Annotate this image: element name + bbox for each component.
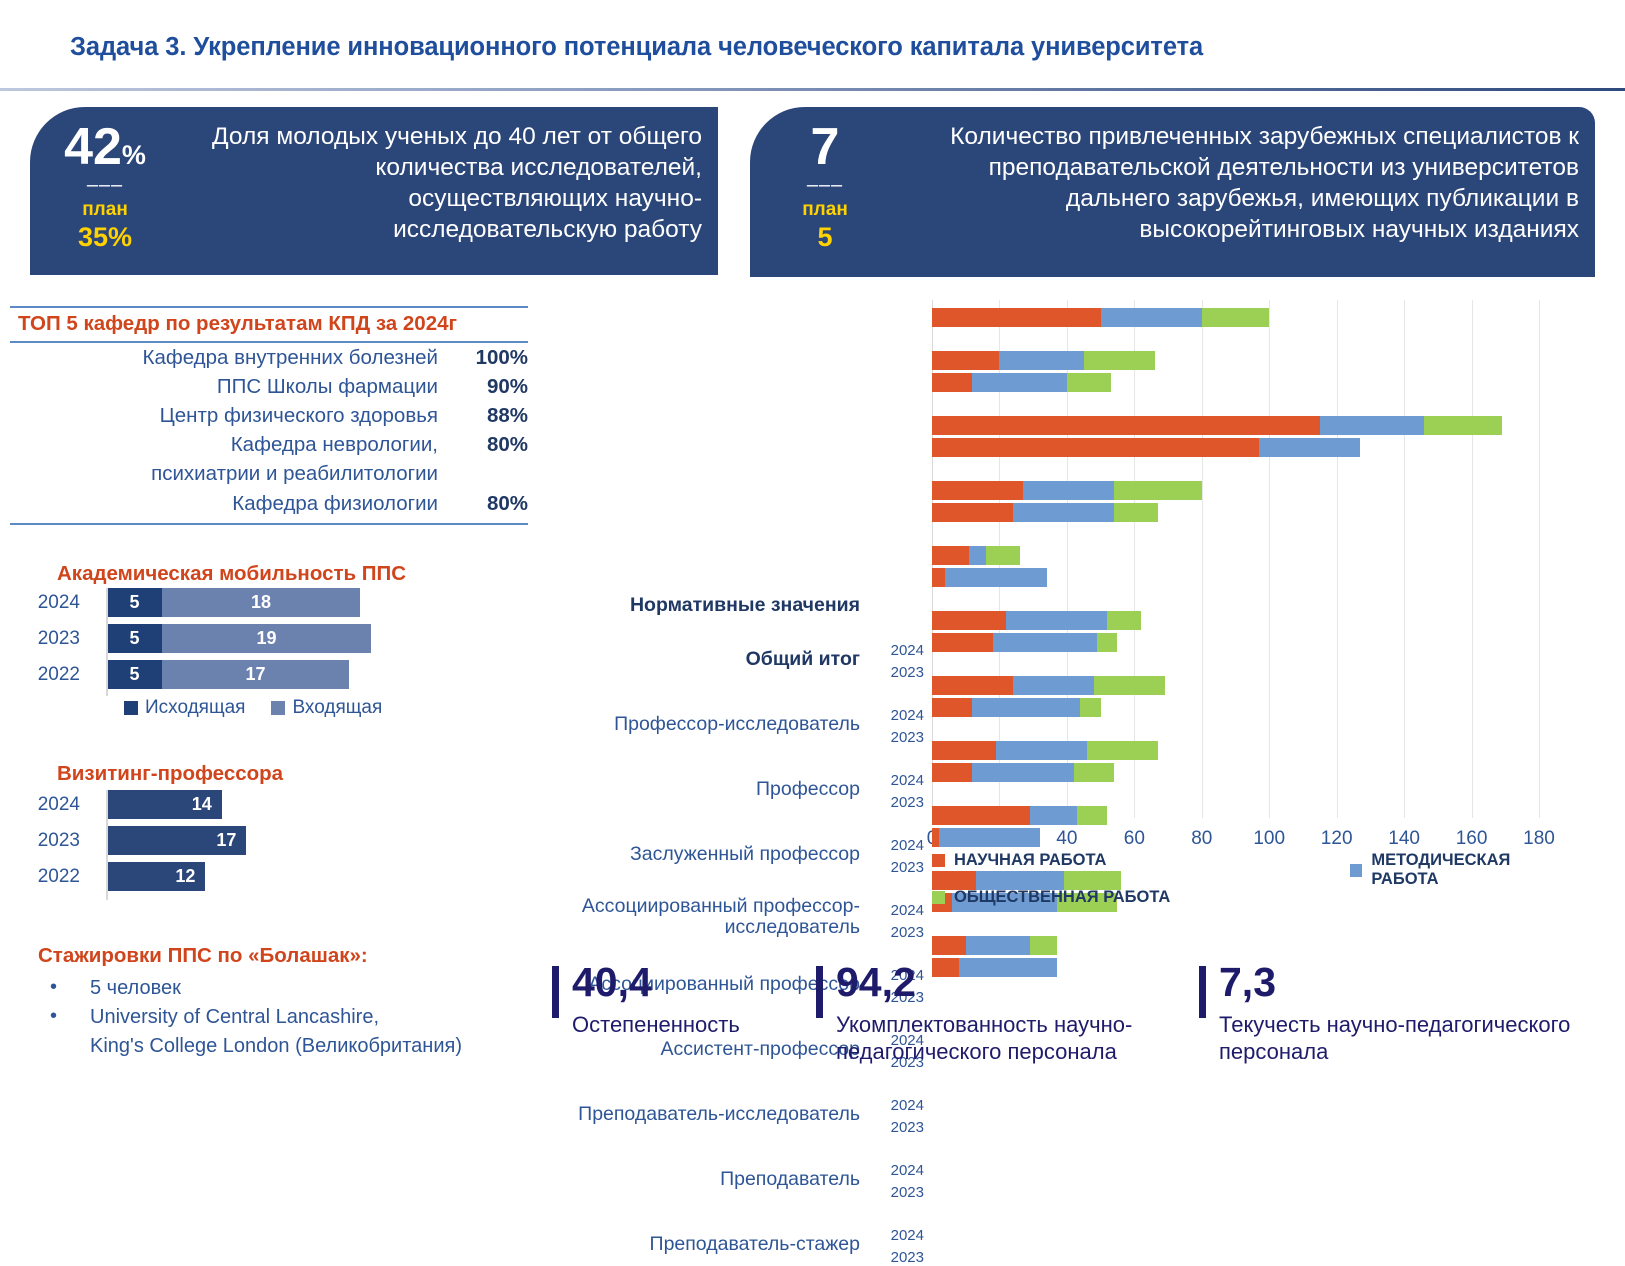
bullet-icon: • xyxy=(50,973,57,1002)
x-axis-tick: 140 xyxy=(1388,828,1420,850)
x-axis-tick: 60 xyxy=(1124,828,1145,850)
legend-item: МЕТОДИЧЕСКАЯ РАБОТА xyxy=(1350,851,1572,889)
kpi-value: 40,4 xyxy=(572,962,802,1003)
bar-row: 2023519 xyxy=(18,624,418,653)
bar-segment-1 xyxy=(932,763,972,782)
table-bottom-rule xyxy=(10,523,528,525)
bar-year-label: 2023 xyxy=(878,859,924,876)
bar-year-label: 2022 xyxy=(18,664,89,686)
kpi-description: Доля молодых ученых до 40 лет от общего … xyxy=(192,121,702,245)
department-name: психиатрии и реабилитологии xyxy=(151,459,456,488)
bar-segment-1 xyxy=(932,568,945,587)
bar-year-label: 2023 xyxy=(878,729,924,746)
department-name: Кафедра неврологии, xyxy=(231,430,456,459)
bar-segment-3 xyxy=(986,546,1020,565)
legend-swatch xyxy=(271,701,285,715)
kpi-card-young-scientists: 42% ––– план 35% Доля молодых ученых до … xyxy=(30,107,718,275)
legend-swatch xyxy=(932,854,945,867)
legend-swatch xyxy=(124,701,138,715)
bar-year-label: 2024 xyxy=(878,1162,924,1179)
list-item-label: University of Central Lancashire, xyxy=(90,1006,379,1028)
department-value: 90% xyxy=(456,372,528,401)
bar-segment-2 xyxy=(1006,611,1107,630)
top5-departments-table: ТОП 5 кафедр по результатам КПД за 2024г… xyxy=(10,306,528,525)
bar-segment-2 xyxy=(1013,676,1094,695)
department-name: Кафедра внутренних болезней xyxy=(143,343,457,372)
x-axis-tick: 160 xyxy=(1456,828,1488,850)
list-item: King's College London (Великобритания) xyxy=(44,1032,538,1061)
bar-segment-2 xyxy=(939,828,1040,847)
bar-year-label: 2022 xyxy=(18,866,89,888)
bar-segment-2 xyxy=(999,351,1083,370)
bar-segment-outgoing: 5 xyxy=(107,588,162,617)
bullet-icon: • xyxy=(50,1002,57,1031)
list-item-label: King's College London (Великобритания) xyxy=(90,1035,462,1057)
table-body: Кафедра внутренних болезней100%ППС Школы… xyxy=(10,343,528,518)
table-row: Центр физического здоровья88% xyxy=(10,401,528,430)
x-axis-tick: 80 xyxy=(1191,828,1212,850)
bar-segment-3 xyxy=(1424,416,1502,435)
bar-year-label: 2024 xyxy=(878,1227,924,1244)
bar-segment-2 xyxy=(1101,308,1202,327)
kpi-value: 7 xyxy=(811,121,840,173)
bar-year-label: 2024 xyxy=(878,1097,924,1114)
bar-segment-1 xyxy=(932,698,972,717)
legend-label: МЕТОДИЧЕСКАЯ РАБОТА xyxy=(1371,851,1572,889)
bar-category-label: Ассоциированный профессор-исследователь xyxy=(560,896,860,940)
gridline xyxy=(1202,300,1203,818)
bar-row: 202212 xyxy=(18,862,418,891)
header-divider xyxy=(0,88,1625,91)
legend-label: ОБЩЕСТВЕННАЯ РАБОТА xyxy=(954,888,1170,907)
bottom-kpi-turnover: 7,3 Текучесть научно-педагогического пер… xyxy=(1199,962,1599,1066)
bar-year-label: 2023 xyxy=(878,1119,924,1136)
bar-category-label: Преподаватель-стажер xyxy=(560,1234,860,1256)
gridline xyxy=(1404,300,1405,818)
kpi-plan-value: 5 xyxy=(817,222,832,253)
kpi-caption: Остепененность xyxy=(572,1012,802,1039)
bar-segment-3 xyxy=(1087,741,1158,760)
bar-segment-1 xyxy=(932,633,993,652)
kpi-value: 94,2 xyxy=(836,962,1196,1003)
bar-year-label: 2023 xyxy=(18,628,89,650)
stacked-bar: 517 xyxy=(107,660,349,689)
bar-segment-3 xyxy=(1077,806,1107,825)
bar-segment: 12 xyxy=(107,862,205,891)
kpi-dash: ––– xyxy=(87,175,123,195)
bar-segment-3 xyxy=(1067,373,1111,392)
x-axis-tick: 100 xyxy=(1253,828,1285,850)
bar-category-label: Ассистент-профессор xyxy=(560,1039,860,1061)
legend-swatch xyxy=(932,891,945,904)
department-value: 100% xyxy=(456,343,528,372)
bar-segment-1 xyxy=(932,936,966,955)
bar-segment-3 xyxy=(1114,481,1202,500)
bolashak-internships: Стажировки ППС по «Болашак»: •5 человек•… xyxy=(38,944,538,1061)
table-row: психиатрии и реабилитологии xyxy=(10,459,528,488)
bar-year-label: 2024 xyxy=(878,902,924,919)
bar-segment-3 xyxy=(1080,698,1100,717)
bar-segment-1 xyxy=(932,503,1013,522)
bottom-kpi-staffing: 94,2 Укомплектованность научно-педагогич… xyxy=(816,962,1196,1066)
bar-segment-outgoing: 5 xyxy=(107,624,162,653)
legend-swatch xyxy=(1350,864,1362,877)
legend-label: Исходящая xyxy=(145,697,245,719)
kpi-value-block: 42% ––– план 35% xyxy=(30,107,180,275)
bar-segment-1 xyxy=(932,351,999,370)
bar-segment-2 xyxy=(1013,503,1114,522)
academic-mobility-title: Академическая мобильность ППС xyxy=(57,562,406,586)
bar-category-label: Преподаватель xyxy=(560,1169,860,1191)
bar-segment-1 xyxy=(932,416,1320,435)
visiting-professors-title: Визитинг-профессора xyxy=(57,762,283,786)
bolashak-list: •5 человек•University of Central Lancash… xyxy=(38,974,538,1061)
bar-segment-incoming: 17 xyxy=(162,660,349,689)
legend-label: Входящая xyxy=(292,697,382,719)
kpi-plan-label: план xyxy=(802,199,848,221)
gridline xyxy=(1269,300,1270,818)
x-axis-tick: 120 xyxy=(1321,828,1353,850)
bar-segment-3 xyxy=(1084,351,1155,370)
bar-year-label: 2024 xyxy=(878,642,924,659)
department-name: ППС Школы фармации xyxy=(217,372,456,401)
bar-segment-2 xyxy=(972,373,1066,392)
list-item: •5 человек xyxy=(44,974,538,1003)
bar-year-label: 2023 xyxy=(878,1249,924,1266)
bar-segment-incoming: 19 xyxy=(162,624,371,653)
bar-segment-1 xyxy=(932,308,1101,327)
bar-segment-2 xyxy=(972,698,1080,717)
chart-axis xyxy=(106,588,108,696)
bar-segment-3 xyxy=(1202,308,1269,327)
kpi-value-block: 7 ––– план 5 xyxy=(750,107,900,277)
table-row: ППС Школы фармации90% xyxy=(10,372,528,401)
bottom-kpi-ostepenennost: 40,4 Остепененность xyxy=(552,962,802,1039)
bar-year-label: 2023 xyxy=(878,924,924,941)
bar-segment-outgoing: 5 xyxy=(107,660,162,689)
kpi-dash: ––– xyxy=(807,175,843,195)
list-item-label: 5 человек xyxy=(90,977,181,999)
kpi-value: 7,3 xyxy=(1219,962,1599,1003)
bar-segment-3 xyxy=(1097,633,1117,652)
bar-segment-1 xyxy=(932,828,939,847)
stacked-bar: 519 xyxy=(107,624,371,653)
bar-segment-2 xyxy=(966,936,1030,955)
legend-item: ОБЩЕСТВЕННАЯ РАБОТА xyxy=(932,888,1170,907)
bar-year-label: 2023 xyxy=(878,1184,924,1201)
bar-category-label: Нормативные значения xyxy=(560,595,860,617)
bar-year-label: 2024 xyxy=(18,794,89,816)
bar-segment-1 xyxy=(932,611,1006,630)
bar-row: 2024518 xyxy=(18,588,418,617)
gridline xyxy=(1472,300,1473,818)
chart-axis xyxy=(106,790,108,900)
bar-segment-1 xyxy=(932,806,1030,825)
x-axis-tick: 40 xyxy=(1056,828,1077,850)
legend-item: Входящая xyxy=(271,697,382,719)
bar-segment-1 xyxy=(932,373,972,392)
visiting-professors-chart: 202414202317202212 xyxy=(18,790,418,898)
workload-stacked-bar-chart: 020406080100120140160180 НАУЧНАЯ РАБОТАМ… xyxy=(560,295,1600,915)
chart-plot-area: 020406080100120140160180 xyxy=(932,300,1539,818)
gridline xyxy=(1337,300,1338,818)
bar-segment: 17 xyxy=(107,826,246,855)
chart-legend: ИсходящаяВходящая xyxy=(124,697,418,719)
bar-segment-2 xyxy=(1320,416,1425,435)
gridline xyxy=(1539,300,1540,818)
bar-year-label: 2024 xyxy=(878,772,924,789)
bar-category-label: Общий итог xyxy=(560,649,860,671)
bar-segment-3 xyxy=(1074,763,1114,782)
department-value: 80% xyxy=(456,489,528,518)
bar-segment-1 xyxy=(932,741,996,760)
table-header: ТОП 5 кафедр по результатам КПД за 2024г xyxy=(10,308,528,341)
bar-segment-incoming: 18 xyxy=(162,588,360,617)
table-row: Кафедра неврологии,80% xyxy=(10,430,528,459)
stacked-bar: 518 xyxy=(107,588,360,617)
kpi-unit: % xyxy=(122,140,146,170)
kpi-plan-label: план xyxy=(82,199,128,221)
bar-category-label: Профессор xyxy=(560,779,860,801)
bar-year-label: 2023 xyxy=(18,830,89,852)
bar-row: 202317 xyxy=(18,826,418,855)
bar-segment-2 xyxy=(1259,438,1360,457)
bar-year-label: 2024 xyxy=(878,837,924,854)
bar-year-label: 2024 xyxy=(878,707,924,724)
bar-category-label: Профессор-исследователь xyxy=(560,714,860,736)
bar-year-label: 2024 xyxy=(18,592,89,614)
department-value: 80% xyxy=(456,430,528,459)
bar-segment-3 xyxy=(1030,936,1057,955)
bar-segment-1 xyxy=(932,546,969,565)
bar-category-label: Заслуженный профессор xyxy=(560,844,860,866)
bar-segment-1 xyxy=(932,676,1013,695)
bar-year-label: 2023 xyxy=(878,794,924,811)
legend-label: НАУЧНАЯ РАБОТА xyxy=(954,851,1106,870)
kpi-value: 42% xyxy=(64,121,146,173)
bar-segment-2 xyxy=(972,763,1073,782)
bar-segment-2 xyxy=(993,633,1098,652)
bar-segment-2 xyxy=(969,546,986,565)
bar-segment-1 xyxy=(932,438,1259,457)
x-axis-tick: 180 xyxy=(1523,828,1555,850)
department-name: Центр физического здоровья xyxy=(160,401,456,430)
kpi-card-foreign-specialists: 7 ––– план 5 Количество привлеченных зар… xyxy=(750,107,1595,277)
bar-row: 202414 xyxy=(18,790,418,819)
bar-year-label: 2023 xyxy=(878,664,924,681)
kpi-description: Количество привлеченных зарубежных специ… xyxy=(919,121,1579,245)
bar-category-label: Преподаватель-исследователь xyxy=(560,1104,860,1126)
kpi-caption: Укомплектованность научно-педагогическог… xyxy=(836,1012,1196,1066)
bar-segment: 14 xyxy=(107,790,222,819)
bar-segment-1 xyxy=(932,481,1023,500)
bar-segment-2 xyxy=(996,741,1087,760)
bar-segment-3 xyxy=(1094,676,1165,695)
bar-segment-2 xyxy=(1030,806,1077,825)
kpi-plan-value: 35% xyxy=(78,222,132,253)
academic-mobility-chart: 202451820235192022517 ИсходящаяВходящая xyxy=(18,588,418,719)
bar-row: 2022517 xyxy=(18,660,418,689)
department-value: 88% xyxy=(456,401,528,430)
list-item: •University of Central Lancashire, xyxy=(44,1003,538,1032)
page-title: Задача 3. Укрепление инновационного поте… xyxy=(70,33,1203,62)
bar-segment-3 xyxy=(1107,611,1141,630)
department-name: Кафедра физиологии xyxy=(232,489,456,518)
kpi-caption: Текучесть научно-педагогического персона… xyxy=(1219,1012,1599,1066)
kpi-accent-bar xyxy=(1199,966,1206,1018)
bar-segment-3 xyxy=(1114,503,1158,522)
legend-item: Исходящая xyxy=(124,697,245,719)
bar-segment-2 xyxy=(1023,481,1114,500)
bar-segment-2 xyxy=(945,568,1046,587)
table-row: Кафедра внутренних болезней100% xyxy=(10,343,528,372)
bolashak-title: Стажировки ППС по «Болашак»: xyxy=(38,944,538,968)
kpi-accent-bar xyxy=(816,966,823,1018)
legend-item: НАУЧНАЯ РАБОТА xyxy=(932,851,1106,870)
kpi-accent-bar xyxy=(552,966,559,1018)
table-row: Кафедра физиологии80% xyxy=(10,489,528,518)
